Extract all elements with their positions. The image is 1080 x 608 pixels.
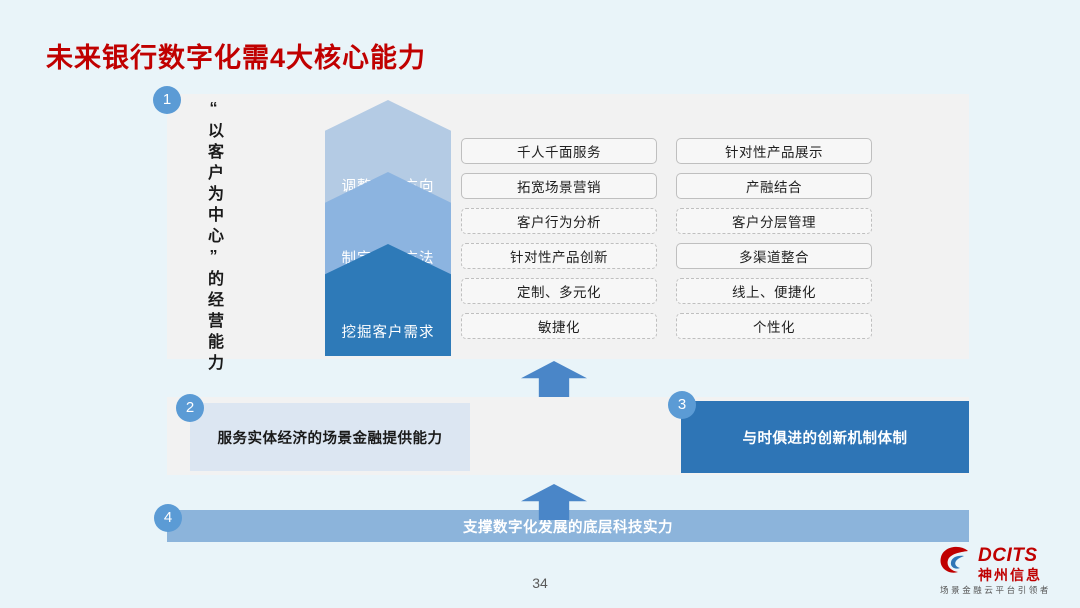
capability-box[interactable]: 客户行为分析 <box>461 208 657 234</box>
company-logo: DCITS 神州信息 场景金融云平台引领者 <box>938 544 1070 600</box>
badge-4: 4 <box>154 504 182 532</box>
capability-box[interactable]: 客户分层管理 <box>676 208 872 234</box>
capability-box[interactable]: 敏捷化 <box>461 313 657 339</box>
dcits-swoosh-icon <box>938 546 974 576</box>
panel-innovation-mechanism[interactable]: 与时俱进的创新机制体制 <box>681 401 969 473</box>
up-arrow-icon <box>521 361 587 397</box>
capability-box[interactable]: 多渠道整合 <box>676 243 872 269</box>
page-title: 未来银行数字化需4大核心能力 <box>46 36 426 75</box>
capability-column-right: 针对性产品展示 产融结合 客户分层管理 多渠道整合 线上、便捷化 个性化 <box>676 138 872 348</box>
logo-tagline: 场景金融云平台引领者 <box>940 584 1051 596</box>
page-number: 34 <box>0 575 1080 591</box>
vertical-headline: “以客户为中心”的经营能力 <box>196 100 230 352</box>
logo-brand-cn: 神州信息 <box>978 565 1042 585</box>
capability-column-left: 千人千面服务 拓宽场景营销 客户行为分析 针对性产品创新 定制、多元化 敏捷化 <box>461 138 657 348</box>
badge-2: 2 <box>176 394 204 422</box>
logo-brand: DCITS <box>978 545 1038 567</box>
capability-box[interactable]: 线上、便捷化 <box>676 278 872 304</box>
badge-1: 1 <box>153 86 181 114</box>
chevron-stack: 调整业务方向 制定执行方法 挖掘客户需求 <box>325 100 451 354</box>
capability-box[interactable]: 产融结合 <box>676 173 872 199</box>
panel-scene-finance[interactable]: 服务实体经济的场景金融提供能力 <box>190 403 470 471</box>
capability-box[interactable]: 定制、多元化 <box>461 278 657 304</box>
capability-box[interactable]: 针对性产品创新 <box>461 243 657 269</box>
capability-box[interactable]: 拓宽场景营销 <box>461 173 657 199</box>
capability-box[interactable]: 个性化 <box>676 313 872 339</box>
capability-box[interactable]: 针对性产品展示 <box>676 138 872 164</box>
capability-box[interactable]: 千人千面服务 <box>461 138 657 164</box>
badge-3: 3 <box>668 391 696 419</box>
